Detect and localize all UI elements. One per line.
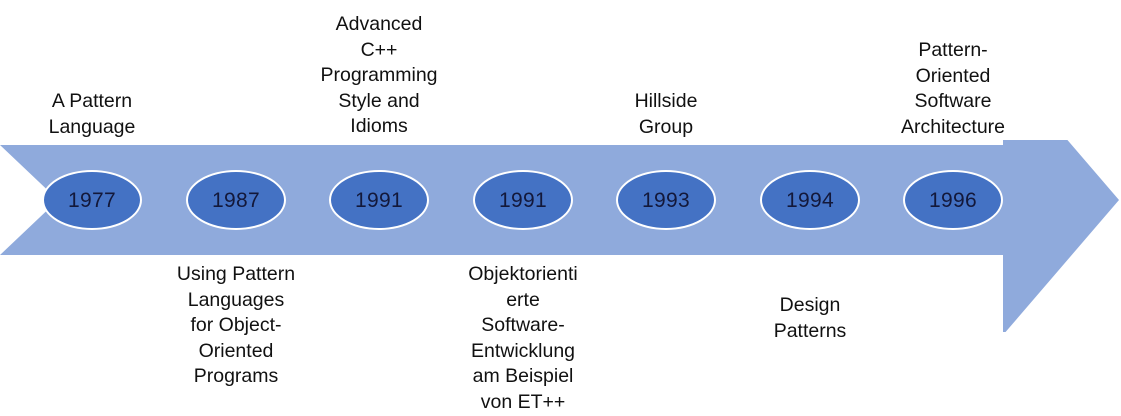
milestone-title-1993-4: Hillside Group	[593, 89, 739, 140]
milestone-title-1994-5: Design Patterns	[737, 293, 883, 344]
milestone-title-1987-1: Using Pattern Languages for Object- Orie…	[163, 262, 309, 390]
milestone-marker-1993-4[interactable]: 1993	[616, 170, 716, 230]
milestone-year-label: 1991	[499, 190, 547, 211]
milestone-title-1996-6: Pattern- Oriented Software Architecture	[880, 38, 1026, 140]
milestone-year-label: 1996	[929, 190, 977, 211]
timeline-diagram: 1977198719911991199319941996 A Pattern L…	[0, 0, 1121, 416]
milestone-title-1977-0: A Pattern Language	[19, 89, 165, 140]
milestone-title-1991-2: Advanced C++ Programming Style and Idiom…	[306, 12, 452, 140]
milestone-year-label: 1977	[68, 190, 116, 211]
milestone-year-label: 1994	[786, 190, 834, 211]
milestone-year-label: 1993	[642, 190, 690, 211]
milestone-title-1991-3: Objektorienti erte Software- Entwicklung…	[450, 262, 596, 415]
milestone-marker-1987-1[interactable]: 1987	[186, 170, 286, 230]
milestone-marker-1991-3[interactable]: 1991	[473, 170, 573, 230]
milestone-marker-1996-6[interactable]: 1996	[903, 170, 1003, 230]
milestone-marker-1977-0[interactable]: 1977	[42, 170, 142, 230]
milestone-marker-1994-5[interactable]: 1994	[760, 170, 860, 230]
milestone-year-label: 1991	[355, 190, 403, 211]
milestone-marker-1991-2[interactable]: 1991	[329, 170, 429, 230]
milestone-year-label: 1987	[212, 190, 260, 211]
